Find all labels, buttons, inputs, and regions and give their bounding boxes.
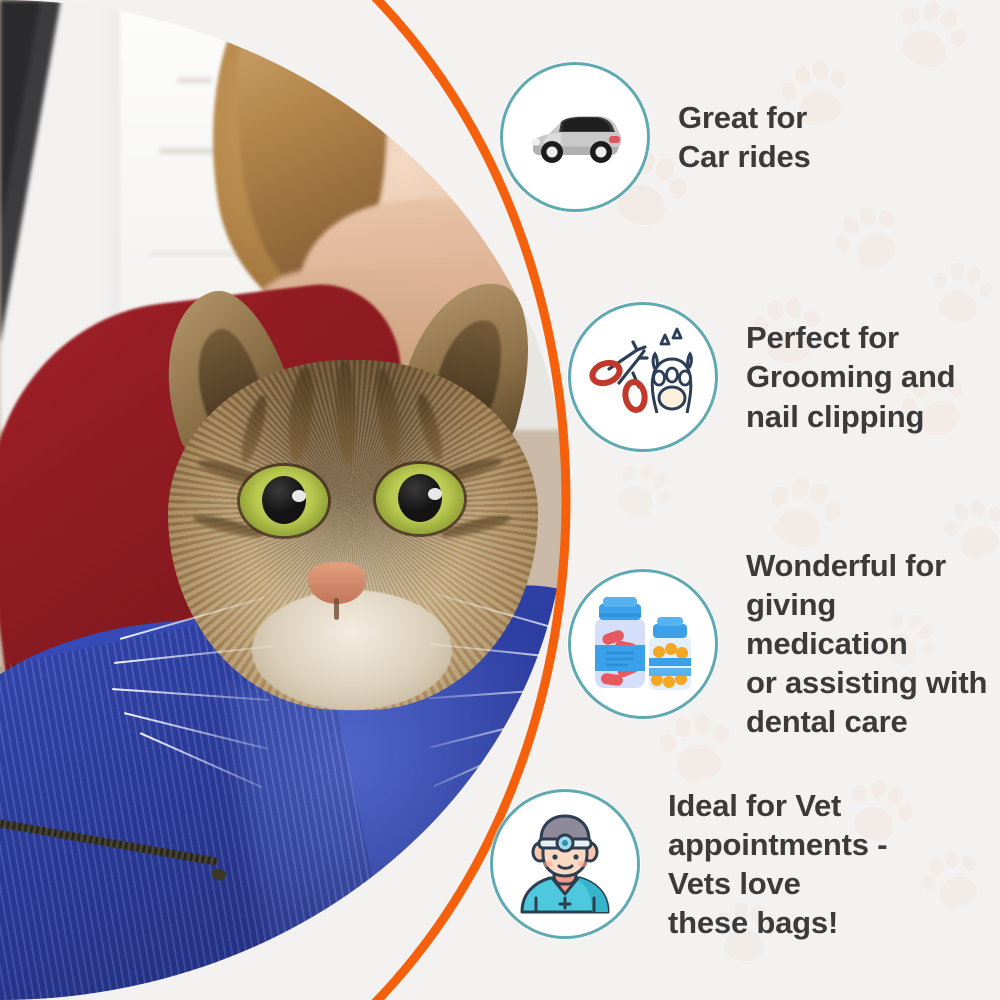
feature-icon-circle [568,302,718,452]
feature-item-grooming[interactable]: Perfect for Grooming and nail clipping [568,302,955,452]
feature-icon-circle [568,569,718,719]
feature-label: Great for Car rides [678,98,811,176]
pill-bottles-icon [587,592,699,696]
feature-label: Wonderful for giving medication or assis… [746,546,1000,741]
veterinarian-icon [512,812,618,916]
car-icon [525,106,625,168]
feature-label: Perfect for Grooming and nail clipping [746,318,955,435]
feature-label: Ideal for Vet appointments - Vets love t… [668,786,887,942]
feature-item-car-rides[interactable]: Great for Car rides [500,62,811,212]
feature-icon-circle [490,789,640,939]
feature-icon-circle [500,62,650,212]
feature-list: Great for Car rides [0,0,1000,1000]
feature-item-medication[interactable]: Wonderful for giving medication or assis… [568,546,1000,741]
nail-clippers-paw-icon [589,325,697,429]
infographic-canvas: Great for Car rides [0,0,1000,1000]
feature-item-vet-appointments[interactable]: Ideal for Vet appointments - Vets love t… [490,786,887,942]
